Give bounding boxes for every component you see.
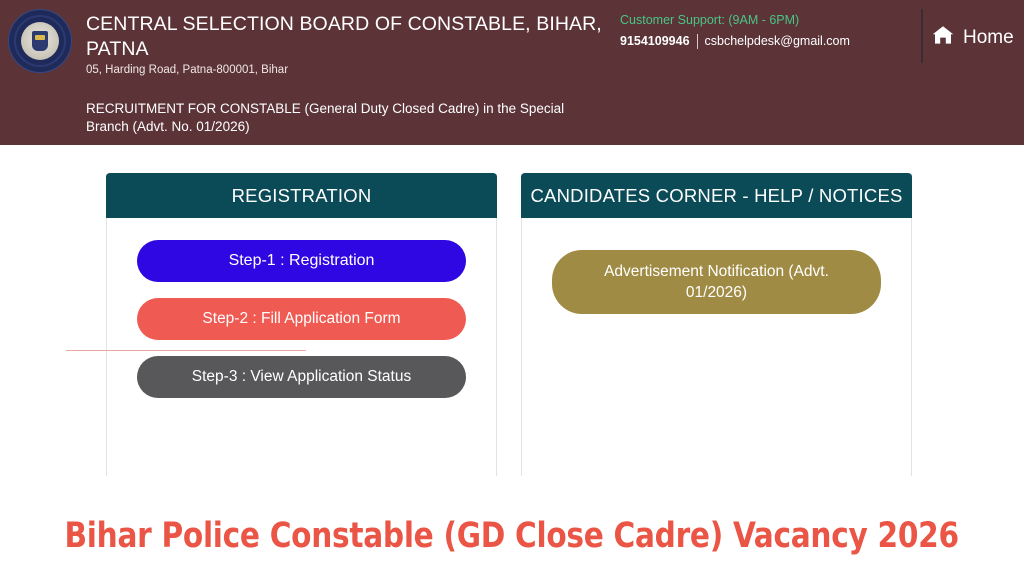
- step-1-registration-button[interactable]: Step-1 : Registration: [137, 240, 466, 282]
- step-2-fill-application-form-button[interactable]: Step-2 : Fill Application Form: [137, 298, 466, 340]
- banner-headline: Bihar Police Constable (GD Close Cadre) …: [65, 516, 959, 556]
- step-3-view-application-status-button[interactable]: Step-3 : View Application Status: [137, 356, 466, 398]
- annotation-pointer-line: [66, 350, 306, 351]
- registration-panel-title: REGISTRATION: [106, 173, 497, 218]
- bottom-banner: Bihar Police Constable (GD Close Cadre) …: [0, 496, 1024, 576]
- recruitment-title: RECRUITMENT FOR CONSTABLE (General Duty …: [86, 100, 576, 135]
- registration-panel: REGISTRATION Step-1 : Registration Step-…: [106, 174, 497, 476]
- registration-panel-body: Step-1 : Registration Step-2 : Fill Appl…: [107, 218, 496, 398]
- customer-support-hours: Customer Support: (9AM - 6PM): [620, 12, 910, 29]
- emblem-crest-icon: [32, 31, 48, 51]
- home-icon: [932, 25, 954, 51]
- advertisement-notification-button[interactable]: Advertisement Notification (Advt. 01/202…: [552, 250, 881, 314]
- organization-name: CENTRAL SELECTION BOARD OF CONSTABLE, BI…: [86, 12, 606, 62]
- support-phone[interactable]: 9154109946: [620, 33, 690, 50]
- candidates-corner-panel-title: CANDIDATES CORNER - HELP / NOTICES: [521, 173, 912, 218]
- support-email[interactable]: csbchelpdesk@gmail.com: [705, 33, 850, 50]
- header-vertical-divider: [921, 9, 923, 63]
- home-nav-link[interactable]: Home: [932, 25, 1014, 51]
- candidates-corner-panel: CANDIDATES CORNER - HELP / NOTICES Adver…: [521, 174, 912, 476]
- customer-support-contacts: 9154109946 csbchelpdesk@gmail.com: [620, 33, 910, 50]
- customer-support-block: Customer Support: (9AM - 6PM) 9154109946…: [620, 12, 910, 50]
- organization-address: 05, Harding Road, Patna-800001, Bihar: [86, 63, 288, 78]
- site-header: CENTRAL SELECTION BOARD OF CONSTABLE, BI…: [0, 0, 1024, 145]
- contact-divider: [697, 34, 698, 49]
- candidates-corner-panel-body: Advertisement Notification (Advt. 01/202…: [522, 218, 911, 314]
- home-label: Home: [963, 27, 1014, 49]
- csbc-emblem-logo: [8, 9, 72, 73]
- emblem-outer-ring: [8, 9, 72, 73]
